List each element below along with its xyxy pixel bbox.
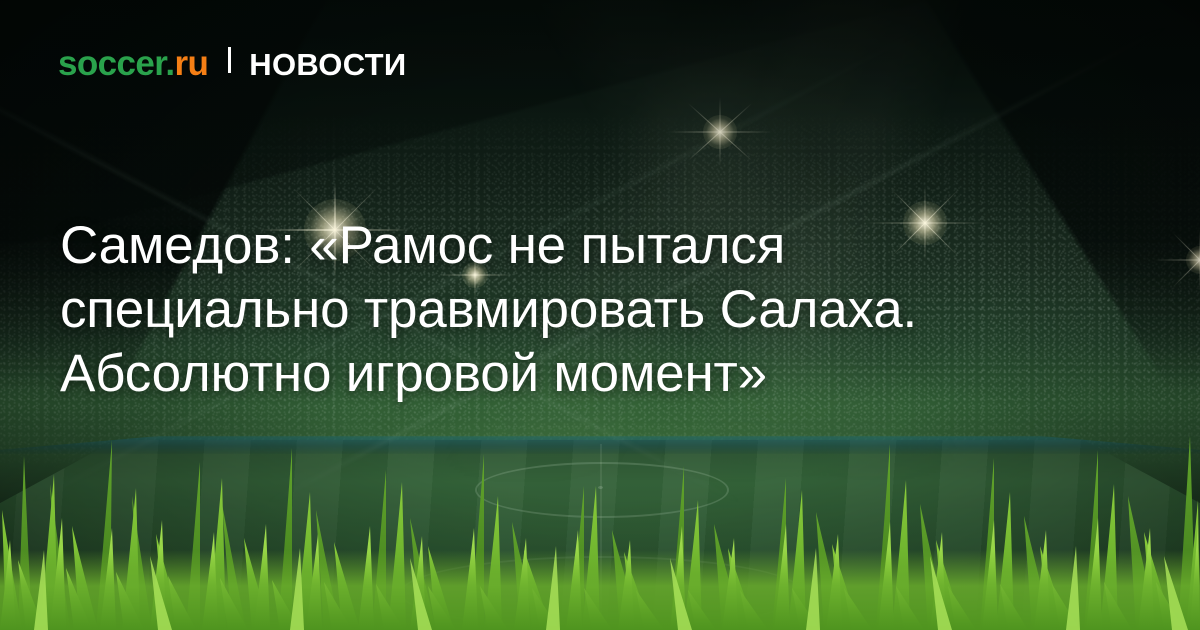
section-label[interactable]: НОВОСТИ: [249, 49, 406, 80]
penalty-arc-marking: [400, 556, 804, 630]
header-separator: [228, 47, 231, 73]
floodlight-flare-center: [660, 72, 780, 192]
site-logo[interactable]: soccer.ru: [58, 46, 208, 81]
page-title: Самедов: «Рамос не пытался специально тр…: [60, 214, 1120, 406]
site-header: soccer.ru НОВОСТИ: [58, 46, 406, 81]
headline-line-2: специально травмировать Салаха.: [60, 278, 1120, 342]
logo-tld: ru: [174, 44, 208, 83]
centre-spot-marking: [598, 486, 603, 489]
headline-line-1: Самедов: «Рамос не пытался: [60, 214, 1120, 278]
floodlight-flare-far-right: [1145, 205, 1200, 315]
headline-line-3: Абсолютно игровой момент»: [60, 342, 1120, 406]
share-card: soccer.ru НОВОСТИ Самедов: «Рамос не пыт…: [0, 0, 1200, 630]
logo-word-main: soccer: [58, 44, 165, 83]
centre-circle-marking: [475, 462, 729, 518]
